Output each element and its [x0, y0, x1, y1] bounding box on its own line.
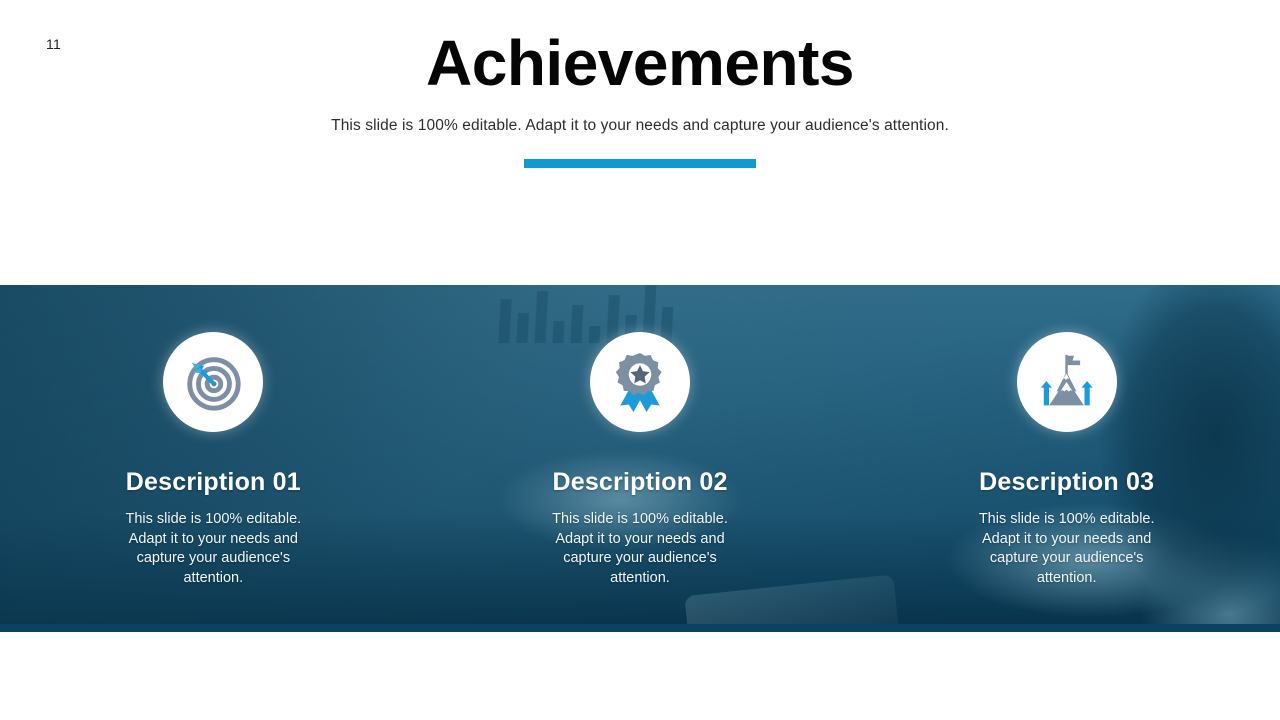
mountain-flag-icon	[1035, 353, 1099, 411]
columns-row: Description 01 This slide is 100% editab…	[0, 285, 1280, 632]
photo-band: Description 01 This slide is 100% editab…	[0, 285, 1280, 632]
target-dart-icon	[182, 351, 244, 413]
icon-circle-2	[590, 332, 690, 432]
column-body-2: This slide is 100% editable. Adapt it to…	[533, 510, 747, 588]
page-title: Achievements	[0, 30, 1280, 97]
title-underline-rule	[524, 159, 756, 168]
column-3: Description 03 This slide is 100% editab…	[853, 285, 1280, 632]
column-1: Description 01 This slide is 100% editab…	[0, 285, 427, 632]
slide-subtitle: This slide is 100% editable. Adapt it to…	[0, 117, 1280, 135]
column-title-2: Description 02	[552, 468, 727, 497]
award-ribbon-icon	[610, 351, 670, 413]
slide: 11 Achievements This slide is 100% edita…	[0, 0, 1280, 720]
slide-header: Achievements This slide is 100% editable…	[0, 30, 1280, 168]
column-title-1: Description 01	[126, 468, 301, 497]
column-body-3: This slide is 100% editable. Adapt it to…	[960, 510, 1174, 588]
icon-circle-3	[1017, 332, 1117, 432]
column-title-3: Description 03	[979, 468, 1154, 497]
column-2: Description 02 This slide is 100% editab…	[427, 285, 854, 632]
column-body-1: This slide is 100% editable. Adapt it to…	[106, 510, 320, 588]
icon-circle-1	[163, 332, 263, 432]
